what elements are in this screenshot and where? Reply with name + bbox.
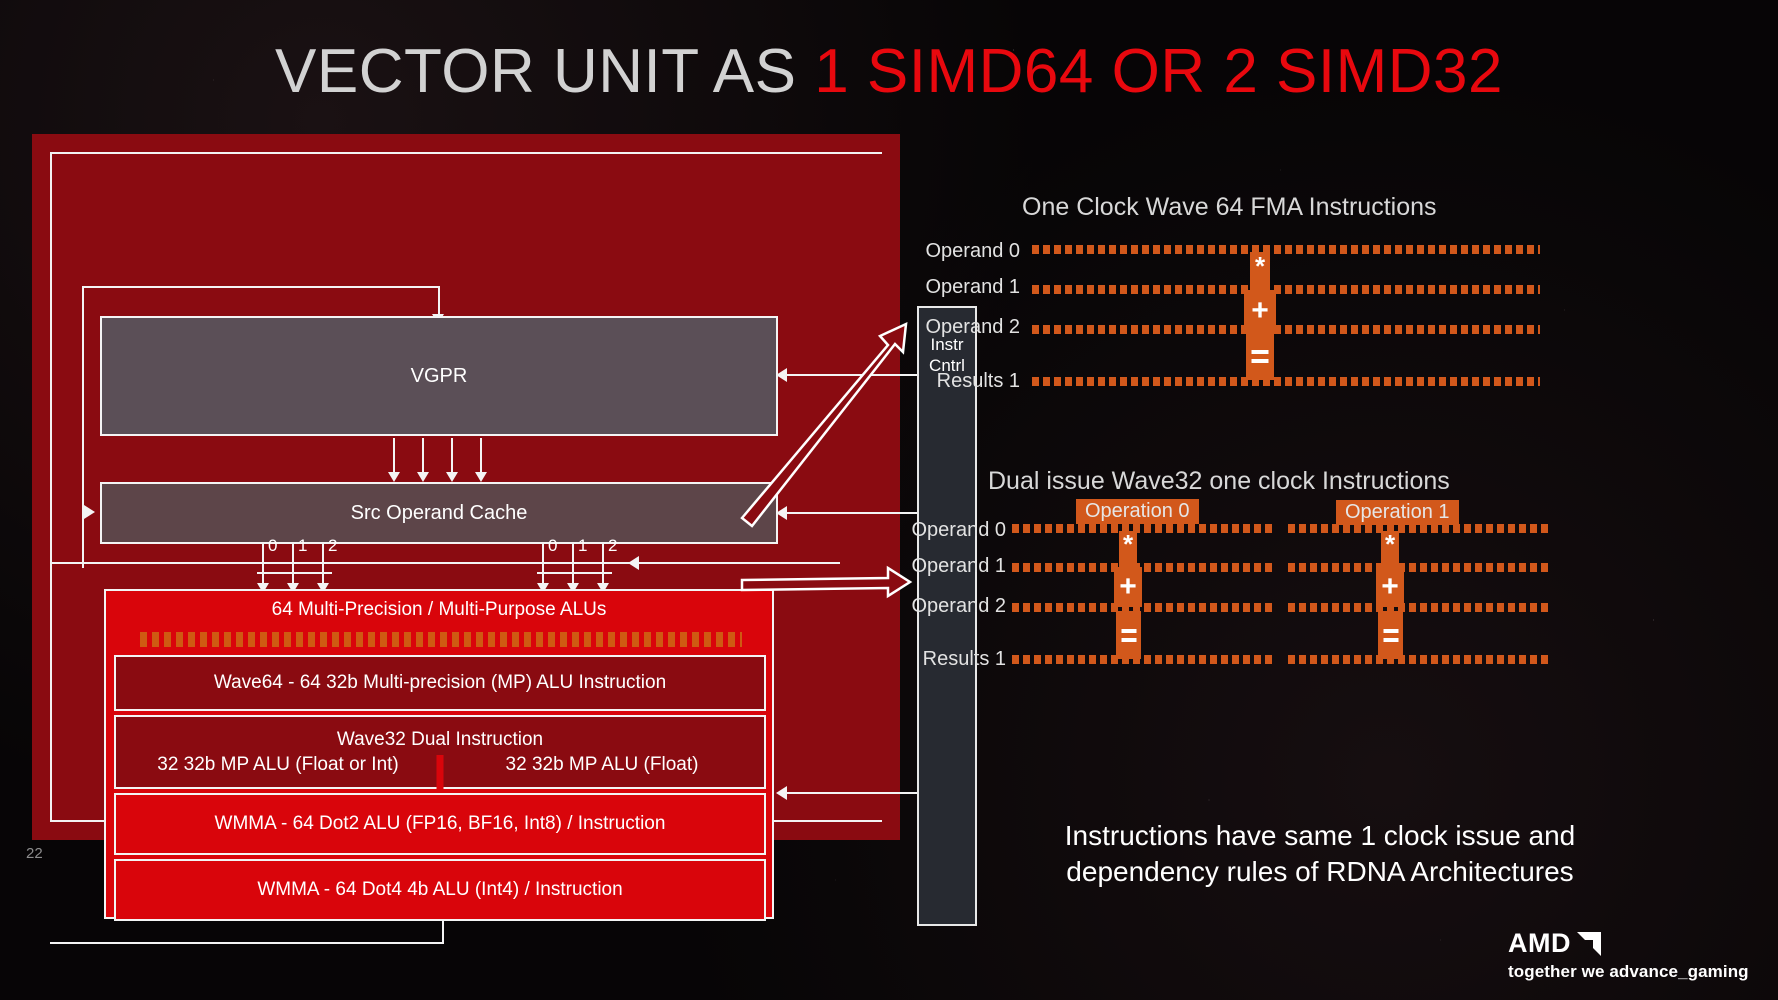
- feedback-left-rail: [82, 286, 84, 568]
- wave32-left-half: 32 32b MP ALU (Float or Int): [116, 754, 440, 776]
- vector-unit-block-diagram: VGPR Src Operand Cache 0 1 2 0 1 2: [32, 134, 900, 840]
- summary-caption: Instructions have same 1 clock issue and…: [1000, 818, 1640, 890]
- instr-to-wmma-line: [787, 792, 917, 794]
- fma-dashline-operand-0: [1032, 245, 1540, 254]
- dual-op0-equals-bar-top: [1121, 629, 1136, 633]
- instr-to-vgpr-arrow-icon: [776, 368, 787, 382]
- dual-op1-equals-bar-bottom: [1383, 638, 1398, 642]
- vgpr-label: VGPR: [411, 365, 468, 388]
- title-segment-accent: 1 SIMD64 OR 2 SIMD32: [814, 37, 1503, 106]
- wave32-dual-instruction-box: Wave32 Dual Instruction 32 32b MP ALU (F…: [114, 715, 766, 789]
- dual-op0-equals-bar-bottom: [1121, 638, 1136, 642]
- instr-to-cache-line: [787, 512, 917, 514]
- wmma-dot2-label: WMMA - 64 Dot2 ALU (FP16, BF16, Int8) / …: [215, 813, 666, 835]
- dual-row-label-results-1: Results 1: [866, 648, 1006, 671]
- operand-left-line-2: [322, 544, 324, 572]
- fma-equals-bar-top: [1252, 350, 1269, 354]
- dual-row-label-operand-0: Operand 0: [866, 519, 1006, 542]
- amd-brand-text: AMD: [1508, 928, 1571, 959]
- wave64-instruction-box: Wave64 - 64 32b Multi-precision (MP) ALU…: [114, 655, 766, 711]
- dual-dashline-operand-1-left: [1012, 563, 1274, 572]
- vgpr-to-cache-line-1: [393, 438, 395, 474]
- dual-dashline-operand-0-left: [1012, 524, 1274, 533]
- fma-dashline-results-1: [1032, 377, 1540, 386]
- vgpr-to-cache-arrow-4-icon: [475, 472, 487, 482]
- vgpr-to-cache-line-2: [422, 438, 424, 474]
- vgpr-box: VGPR: [100, 316, 778, 436]
- wave32-divider: [437, 755, 444, 789]
- vgpr-to-cache-arrow-3-icon: [446, 472, 458, 482]
- fma-row-label-operand-1: Operand 1: [880, 276, 1020, 299]
- amd-wordmark: AMD: [1508, 928, 1758, 959]
- operand-right-line-1: [572, 544, 574, 572]
- operand-tick-left-2: 2: [328, 537, 337, 554]
- dual-op1-add-block: +: [1376, 567, 1404, 607]
- operand-left-line-0: [262, 544, 264, 572]
- operand-right-line-0: [542, 544, 544, 572]
- fma-panel-title: One Clock Wave 64 FMA Instructions: [1022, 193, 1437, 222]
- dual-op1-multiply-block: *: [1381, 531, 1399, 569]
- wmma-dot4-label: WMMA - 64 Dot4 4b ALU (Int4) / Instructi…: [257, 879, 622, 901]
- amd-arrow-icon: [1575, 932, 1601, 956]
- wave32-right-half: 32 32b MP ALU (Float): [440, 754, 764, 776]
- instr-to-operand-bus-rail: [50, 562, 840, 564]
- wave32-title: Wave32 Dual Instruction: [337, 729, 543, 751]
- fma-row-label-operand-0: Operand 0: [880, 240, 1020, 263]
- operand-right-line-2: [602, 544, 604, 572]
- dual-dashline-operand-2-left: [1012, 603, 1274, 612]
- dual-op1-equals-bar-top: [1383, 629, 1398, 633]
- src-operand-cache-label: Src Operand Cache: [351, 502, 528, 525]
- alu-group-title: 64 Multi-Precision / Multi-Purpose ALUs: [106, 599, 772, 621]
- fma-equals-bar-bottom: [1252, 359, 1269, 363]
- caption-line-1: Instructions have same 1 clock issue and: [1000, 818, 1640, 854]
- instr-to-cache-arrow-icon: [776, 506, 787, 520]
- instr-to-wmma-arrow-icon: [776, 786, 787, 800]
- alu-group-box: 64 Multi-Precision / Multi-Purpose ALUs …: [104, 589, 774, 919]
- operand-left-bus: [257, 572, 332, 574]
- instr-to-operand-bus-arrow-icon: [628, 556, 639, 570]
- fma-dashline-operand-1: [1032, 285, 1540, 294]
- vgpr-to-cache-line-4: [480, 438, 482, 474]
- dual-operation-0-label: Operation 0: [1076, 499, 1199, 524]
- operand-tick-right-2: 2: [608, 537, 617, 554]
- dual-op0-add-block: +: [1114, 567, 1142, 607]
- fma-add-block: +: [1244, 290, 1276, 332]
- wmma-dot2-box: WMMA - 64 Dot2 ALU (FP16, BF16, Int8) / …: [114, 793, 766, 855]
- dual-dashline-results-1-right: [1288, 655, 1550, 664]
- dual-dashline-operand-0-right: [1288, 524, 1550, 533]
- dual-panel-title: Dual issue Wave32 one clock Instructions: [988, 467, 1450, 496]
- fma-equals-block: [1246, 332, 1274, 380]
- title-segment-plain: VECTOR UNIT AS: [275, 37, 814, 106]
- arrow-into-src-cache-icon: [84, 505, 95, 519]
- dual-operation-1-label: Operation 1: [1336, 500, 1459, 525]
- dual-dashline-operand-2-right: [1288, 603, 1550, 612]
- fma-row-label-operand-2: Operand 2: [880, 316, 1020, 339]
- operand-left-line-1: [292, 544, 294, 572]
- dual-op0-multiply-block: *: [1119, 531, 1137, 569]
- fma-row-label-results-1: Results 1: [880, 370, 1020, 393]
- caption-line-2: dependency rules of RDNA Architectures: [1000, 854, 1640, 890]
- dual-op0-equals-block: [1116, 611, 1141, 659]
- dual-op1-equals-block: [1378, 611, 1403, 659]
- fma-dashline-operand-2: [1032, 325, 1540, 334]
- wmma-dot4-box: WMMA - 64 Dot4 4b ALU (Int4) / Instructi…: [114, 859, 766, 921]
- src-operand-cache-box: Src Operand Cache: [100, 482, 778, 544]
- alu-lane-strip: [140, 632, 742, 647]
- page-title: VECTOR UNIT AS 1 SIMD64 OR 2 SIMD32: [0, 36, 1778, 107]
- operand-tick-left-0: 0: [268, 537, 277, 554]
- operand-tick-left-1: 1: [298, 537, 307, 554]
- dual-dashline-results-1-left: [1012, 655, 1274, 664]
- amd-logo: AMD together we advance_gaming: [1508, 928, 1758, 982]
- amd-tagline: together we advance_gaming: [1508, 962, 1758, 982]
- vgpr-to-cache-arrow-2-icon: [417, 472, 429, 482]
- bottom-return-rail: [50, 942, 444, 944]
- operand-tick-right-1: 1: [578, 537, 587, 554]
- vgpr-to-cache-line-3: [451, 438, 453, 474]
- dual-row-label-operand-1: Operand 1: [866, 555, 1006, 578]
- wave64-label: Wave64 - 64 32b Multi-precision (MP) ALU…: [214, 672, 666, 694]
- feedback-down-to-vgpr: [438, 286, 440, 316]
- dual-dashline-operand-1-right: [1288, 563, 1550, 572]
- feedback-top-rail: [82, 286, 440, 288]
- vgpr-to-cache-arrow-1-icon: [388, 472, 400, 482]
- slide-page-number: 22: [26, 845, 43, 862]
- fma-multiply-block: *: [1250, 252, 1270, 292]
- slide-canvas: VECTOR UNIT AS 1 SIMD64 OR 2 SIMD32 VGPR…: [0, 0, 1778, 1000]
- operand-tick-right-0: 0: [548, 537, 557, 554]
- dual-row-label-operand-2: Operand 2: [866, 595, 1006, 618]
- bottom-return-riser: [442, 920, 444, 944]
- operand-right-bus: [537, 572, 612, 574]
